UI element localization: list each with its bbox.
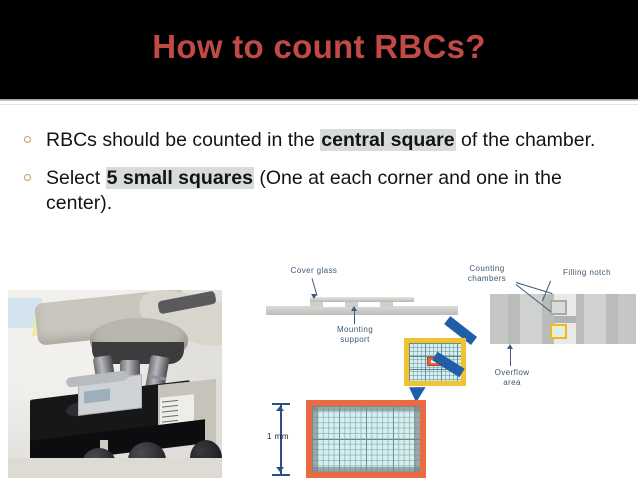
microscope-base (8, 458, 222, 478)
grid-lines-orange (312, 406, 420, 472)
bullet-text: Select 5 small squares (One at each corn… (46, 167, 562, 214)
top-view-band-4 (618, 294, 636, 344)
label-filling-notch: Filling notch (548, 268, 626, 278)
slide: How to count RBCs? RBCs should be counte… (0, 0, 638, 479)
list-item: Select 5 small squares (One at each corn… (0, 166, 620, 216)
slide-base-side-view (266, 306, 458, 315)
chamber-gap-right (358, 302, 380, 307)
h-channel (554, 316, 576, 323)
mounting-support-right (380, 302, 393, 307)
dimension-arrow-down (276, 467, 284, 472)
top-view-band-3 (584, 294, 606, 344)
arrowhead-mounting-support (351, 306, 357, 311)
bullet-text-segment: of the chamber. (456, 129, 596, 151)
bullet-highlight-central-square: central square (320, 129, 455, 151)
hemocytometer-top-view (490, 294, 636, 344)
label-overflow-area: Overflow area (476, 368, 548, 387)
dimension-cap-bottom (272, 474, 290, 476)
bullet-text-segment: Select (46, 167, 106, 189)
label-cover-glass: Cover glass (272, 266, 356, 276)
bullet-list: RBCs should be counted in the central sq… (0, 128, 620, 229)
title-divider-secondary (0, 104, 638, 105)
grid-edge-right (414, 406, 420, 472)
counting-chamber-lower-highlighted (550, 324, 567, 339)
microscope-photo (8, 290, 222, 478)
arrowhead-overflow-area (507, 344, 513, 349)
hemocytometer-diagram: Cover glass Mounting support Counting ch… (258, 264, 638, 479)
leader-mounting-support (354, 310, 355, 324)
chamber-gap-left (323, 302, 345, 307)
leader-overflow-area (510, 348, 511, 366)
grid-edge-top (312, 406, 420, 411)
top-view-band-1 (490, 294, 508, 344)
mounting-support-left (310, 302, 323, 307)
label-1mm: 1 mm (256, 432, 300, 441)
hollow-circle-bullet-icon (24, 174, 31, 181)
hollow-circle-bullet-icon (24, 136, 31, 143)
grid-edge-bottom (312, 467, 420, 472)
bullet-highlight-5-small-squares: 5 small squares (106, 167, 254, 189)
list-item: RBCs should be counted in the central sq… (0, 128, 620, 153)
bullet-text-segment: RBCs should be counted in the (46, 129, 320, 151)
magnified-counting-grid-orange (306, 400, 426, 478)
dimension-arrow-up (276, 406, 284, 411)
dimension-cap-top (272, 403, 290, 405)
counting-chamber-upper (550, 300, 567, 315)
grid-edge-left (312, 406, 318, 472)
label-counting-chambers: Counting chambers (458, 264, 516, 283)
arrowhead-cover-glass (311, 294, 317, 299)
page-title: How to count RBCs? (0, 28, 638, 66)
label-mounting-support: Mounting support (320, 325, 390, 344)
title-divider (0, 99, 638, 101)
bullet-text: RBCs should be counted in the central sq… (46, 129, 595, 151)
